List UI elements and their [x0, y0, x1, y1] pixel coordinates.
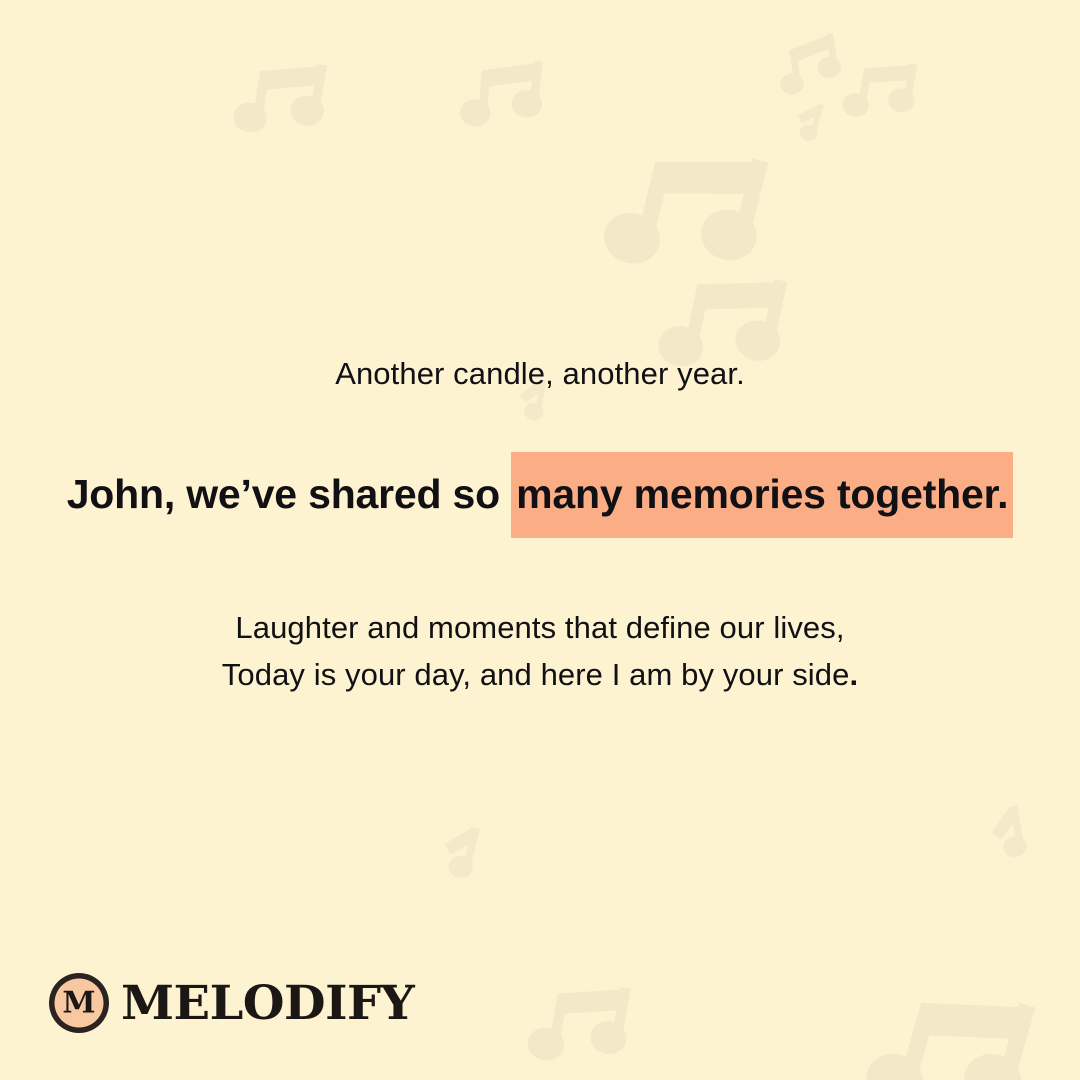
- card-content: Another candle, another year. John, we’v…: [0, 0, 1080, 1080]
- lyric-line-2-text: Today is your day, and here I am by your…: [222, 657, 850, 692]
- svg-text:M: M: [62, 986, 95, 1021]
- headline: John, we’ve shared so many memories toge…: [0, 474, 1080, 515]
- lyric-body: Laughter and moments that define our liv…: [0, 604, 1080, 698]
- lyric-line-2: Today is your day, and here I am by your…: [0, 651, 1080, 698]
- melodify-wordmark: MELODIFY: [121, 980, 414, 1027]
- melodify-logo[interactable]: M MELODIFY: [48, 972, 409, 1034]
- social-card: Another candle, another year. John, we’v…: [0, 0, 1080, 1080]
- lyric-line-2-period: .: [849, 657, 858, 692]
- headline-plain-text: John, we’ve shared so: [67, 471, 511, 517]
- melodify-badge-icon: M: [48, 972, 110, 1034]
- headline-highlighted-text: many memories together.: [511, 452, 1013, 538]
- lyric-line-opening: Another candle, another year.: [0, 355, 1080, 394]
- lyric-line-1: Laughter and moments that define our liv…: [0, 604, 1080, 651]
